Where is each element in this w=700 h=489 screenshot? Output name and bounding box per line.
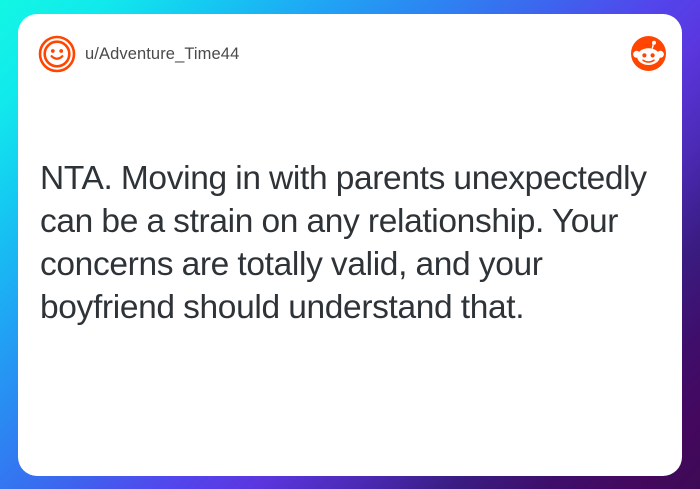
gradient-background: u/Adventure_Time44 NTA. Moving in with p… bbox=[0, 0, 700, 489]
smiley-face-avatar-icon[interactable] bbox=[38, 35, 76, 73]
card-header: u/Adventure_Time44 bbox=[18, 14, 682, 109]
username-label[interactable]: u/Adventure_Time44 bbox=[85, 45, 239, 64]
reddit-snoo-icon[interactable] bbox=[631, 36, 666, 71]
post-body-text: NTA. Moving in with parents unexpectedly… bbox=[40, 157, 660, 329]
reddit-comment-card: u/Adventure_Time44 NTA. Moving in with p… bbox=[18, 14, 682, 476]
